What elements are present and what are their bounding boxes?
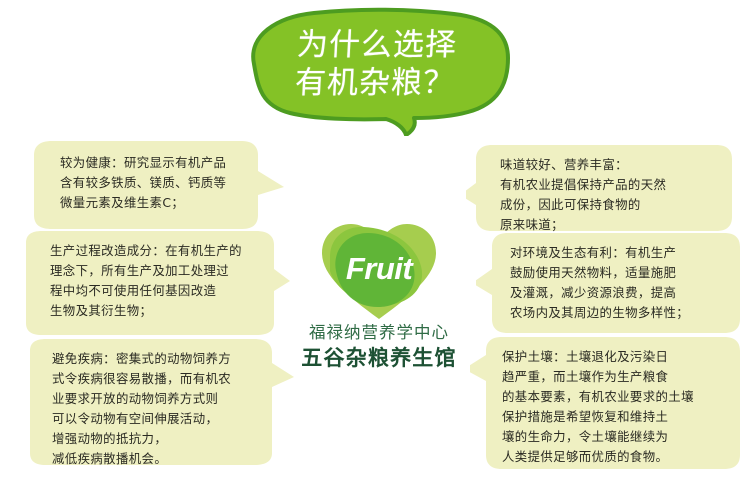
bubble-soil: 保护土壤：土壤退化及污染日 趋严重，而土壤作为生产粮食 的基本要素，有机农业要求… (470, 335, 744, 471)
fruit-logo: Fruit (316, 221, 442, 321)
bubble-disease: 避免疾病：密集式的动物饲养方 式令疾病很容易散播，而有机农 业要求开放的动物饲养… (24, 337, 296, 467)
title-speech-bubble: 为什么选择 有机杂粮？ (236, 6, 516, 136)
bubble-health: 较为健康：研究显示有机产品 含有较多铁质、镁质、钙质等 微量元素及维生素C； (26, 139, 294, 231)
bubble-soil-text: 保护土壤：土壤退化及污染日 趋严重，而土壤作为生产粮食 的基本要素，有机农业要求… (470, 335, 744, 468)
bubble-taste-text: 味道较好、营养丰富： 有机农业提倡保持产品的天然 成份，因此可保持食物的 原来味… (466, 143, 738, 235)
brand-title: 五谷杂粮养生馆 (266, 345, 492, 372)
bubble-health-text: 较为健康：研究显示有机产品 含有较多铁质、镁质、钙质等 微量元素及维生素C； (26, 139, 294, 213)
brand-block: 福禄纳营养学中心 五谷杂粮养生馆 (266, 322, 492, 373)
bubble-taste: 味道较好、营养丰富： 有机农业提倡保持产品的天然 成份，因此可保持食物的 原来味… (466, 143, 738, 233)
logo-wordmark: Fruit (316, 251, 442, 287)
bubble-disease-text: 避免疾病：密集式的动物饲养方 式令疾病很容易散播，而有机农 业要求开放的动物饲养… (24, 337, 296, 470)
title-text: 为什么选择 有机杂粮？ (233, 6, 519, 124)
bubble-eco-text: 对环境及生态有利：有机生产 鼓励使用天然物料，适量施肥 及灌溉，减少资源浪费，提… (476, 231, 742, 323)
brand-subtitle: 福禄纳营养学中心 (266, 322, 492, 343)
poster-canvas: 为什么选择 有机杂粮？ 较为健康：研究显示有机产品 含有较多铁质、镁质、钙质等 … (0, 0, 750, 486)
bubble-gmo: 生产过程改造成分：在有机生产的 理念下，所有生产及加工处理过 程中均不可使用任何… (20, 229, 292, 337)
bubble-eco: 对环境及生态有利：有机生产 鼓励使用天然物料，适量施肥 及灌溉，减少资源浪费，提… (476, 231, 742, 335)
bubble-gmo-text: 生产过程改造成分：在有机生产的 理念下，所有生产及加工处理过 程中均不可使用任何… (20, 229, 292, 321)
